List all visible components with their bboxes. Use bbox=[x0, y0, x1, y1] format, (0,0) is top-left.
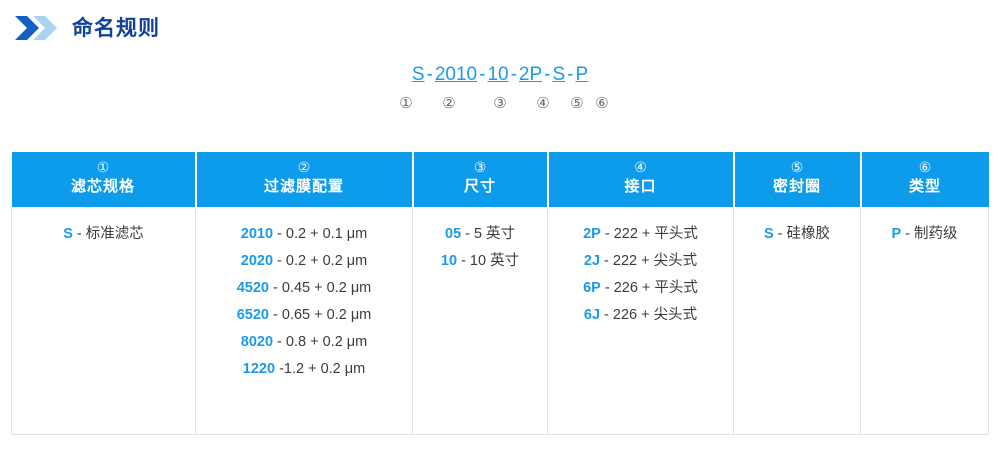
option-row: 2P - 222 + 平头式 bbox=[583, 221, 698, 248]
table-cell-size: 05 - 5 英寸10 - 10 英寸 bbox=[413, 207, 548, 435]
code-marker-3: ③ bbox=[475, 94, 525, 114]
table-header-cell-5: ⑤ 密封圈 bbox=[734, 152, 861, 207]
option-list-2: 2010 - 0.2 + 0.1 μm2020 - 0.2 + 0.2 μm45… bbox=[196, 221, 412, 383]
table-header-cell-4: ④ 接口 bbox=[548, 152, 734, 207]
table-header-cell-3: ③ 尺寸 bbox=[413, 152, 548, 207]
option-row: 4520 - 0.45 + 0.2 μm bbox=[237, 275, 372, 302]
column-label-1: 滤芯规格 bbox=[14, 176, 193, 198]
option-description: - 0.65 + 0.2 μm bbox=[269, 307, 371, 323]
table-body-row: S - 标准滤芯 2010 - 0.2 + 0.1 μm2020 - 0.2 +… bbox=[12, 207, 989, 435]
option-description: -1.2 + 0.2 μm bbox=[275, 361, 365, 377]
option-description: - 226 + 尖头式 bbox=[600, 307, 697, 323]
option-description: - 标准滤芯 bbox=[73, 226, 144, 242]
option-row: S - 标准滤芯 bbox=[63, 221, 144, 248]
page-header: 命名规则 bbox=[0, 0, 1000, 56]
option-row: 2020 - 0.2 + 0.2 μm bbox=[241, 248, 367, 275]
code-example: S-2010-10-2P-S-P ①②③④⑤⑥ bbox=[0, 62, 1000, 114]
option-list-5: S - 硅橡胶 bbox=[734, 221, 860, 248]
option-code: 6J bbox=[584, 307, 600, 323]
option-row: 2010 - 0.2 + 0.1 μm bbox=[241, 221, 367, 248]
column-number-3: ③ bbox=[416, 158, 545, 176]
code-separator-1: - bbox=[425, 64, 435, 85]
option-code: 05 bbox=[445, 226, 461, 242]
code-string: S-2010-10-2P-S-P bbox=[0, 62, 1000, 88]
option-code: P bbox=[891, 226, 901, 242]
option-code: 2J bbox=[584, 253, 600, 269]
code-marker-1: ① bbox=[389, 94, 423, 114]
option-description: - 0.45 + 0.2 μm bbox=[269, 280, 371, 296]
code-separator-3: - bbox=[509, 64, 519, 85]
option-code: 2010 bbox=[241, 226, 273, 242]
option-code: 8020 bbox=[241, 334, 273, 350]
code-segment-4: 2P bbox=[519, 64, 542, 85]
option-description: - 226 + 平头式 bbox=[601, 280, 698, 296]
option-code: 1220 bbox=[243, 361, 275, 377]
option-description: - 0.2 + 0.2 μm bbox=[273, 253, 367, 269]
option-code: 6P bbox=[583, 280, 601, 296]
option-row: 6P - 226 + 平头式 bbox=[583, 275, 698, 302]
code-separator-2: - bbox=[477, 64, 487, 85]
option-row: P - 制药级 bbox=[891, 221, 957, 248]
column-number-6: ⑥ bbox=[864, 158, 987, 176]
option-description: - 222 + 尖头式 bbox=[600, 253, 697, 269]
table-header-cell-2: ② 过滤膜配置 bbox=[196, 152, 413, 207]
option-row: 6520 - 0.65 + 0.2 μm bbox=[237, 302, 372, 329]
column-label-4: 接口 bbox=[551, 176, 731, 198]
option-description: - 5 英寸 bbox=[461, 226, 515, 242]
column-number-1: ① bbox=[14, 158, 193, 176]
double-chevron-right-icon bbox=[14, 15, 60, 41]
code-marker-6: ⑥ bbox=[593, 94, 611, 114]
page-title: 命名规则 bbox=[72, 18, 160, 39]
table-cell-type: P - 制药级 bbox=[861, 207, 989, 435]
column-number-4: ④ bbox=[551, 158, 731, 176]
table-cell-membrane-config: 2010 - 0.2 + 0.1 μm2020 - 0.2 + 0.2 μm45… bbox=[196, 207, 413, 435]
option-code: 4520 bbox=[237, 280, 269, 296]
option-row: 1220 -1.2 + 0.2 μm bbox=[243, 356, 365, 383]
code-segment-6: P bbox=[576, 64, 589, 85]
code-marker-2: ② bbox=[423, 94, 475, 114]
option-description: - 0.8 + 0.2 μm bbox=[273, 334, 367, 350]
option-list-6: P - 制药级 bbox=[861, 221, 988, 248]
option-code: 6520 bbox=[237, 307, 269, 323]
option-code: S bbox=[764, 226, 774, 242]
option-row: 05 - 5 英寸 bbox=[445, 221, 515, 248]
option-row: 8020 - 0.8 + 0.2 μm bbox=[241, 329, 367, 356]
option-description: - 222 + 平头式 bbox=[601, 226, 698, 242]
column-label-2: 过滤膜配置 bbox=[199, 176, 410, 198]
option-row: S - 硅橡胶 bbox=[764, 221, 830, 248]
column-label-3: 尺寸 bbox=[416, 176, 545, 198]
column-label-5: 密封圈 bbox=[737, 176, 858, 198]
option-code: S bbox=[63, 226, 73, 242]
option-description: - 10 英寸 bbox=[457, 253, 519, 269]
table-header-row: ① 滤芯规格 ② 过滤膜配置 ③ 尺寸 ④ 接口 ⑤ 密封圈 ⑥ 类型 bbox=[12, 152, 989, 207]
table-cell-filter-spec: S - 标准滤芯 bbox=[12, 207, 196, 435]
code-marker-5: ⑤ bbox=[561, 94, 593, 114]
naming-rule-table: ① 滤芯规格 ② 过滤膜配置 ③ 尺寸 ④ 接口 ⑤ 密封圈 ⑥ 类型 bbox=[11, 152, 989, 435]
option-list-4: 2P - 222 + 平头式2J - 222 + 尖头式6P - 226 + 平… bbox=[548, 221, 733, 329]
option-row: 6J - 226 + 尖头式 bbox=[584, 302, 697, 329]
option-code: 2P bbox=[583, 226, 601, 242]
code-separator-5: - bbox=[565, 64, 575, 85]
table-header-cell-6: ⑥ 类型 bbox=[861, 152, 989, 207]
option-code: 10 bbox=[441, 253, 457, 269]
code-segment-2: 2010 bbox=[435, 64, 477, 85]
code-markers: ①②③④⑤⑥ bbox=[0, 94, 1000, 114]
table-header-cell-1: ① 滤芯规格 bbox=[12, 152, 196, 207]
column-number-2: ② bbox=[199, 158, 410, 176]
table-cell-seal-ring: S - 硅橡胶 bbox=[734, 207, 861, 435]
option-description: - 制药级 bbox=[901, 226, 957, 242]
option-list-3: 05 - 5 英寸10 - 10 英寸 bbox=[413, 221, 547, 275]
option-row: 2J - 222 + 尖头式 bbox=[584, 248, 697, 275]
table-cell-connector: 2P - 222 + 平头式2J - 222 + 尖头式6P - 226 + 平… bbox=[548, 207, 734, 435]
code-segment-3: 10 bbox=[487, 64, 508, 85]
code-segment-1: S bbox=[412, 64, 425, 85]
option-code: 2020 bbox=[241, 253, 273, 269]
code-segment-5: S bbox=[552, 64, 565, 85]
option-list-1: S - 标准滤芯 bbox=[12, 221, 195, 248]
code-marker-4: ④ bbox=[525, 94, 561, 114]
code-separator-4: - bbox=[542, 64, 552, 85]
column-number-5: ⑤ bbox=[737, 158, 858, 176]
option-description: - 0.2 + 0.1 μm bbox=[273, 226, 367, 242]
column-label-6: 类型 bbox=[864, 176, 987, 198]
option-row: 10 - 10 英寸 bbox=[441, 248, 519, 275]
option-description: - 硅橡胶 bbox=[774, 226, 830, 242]
